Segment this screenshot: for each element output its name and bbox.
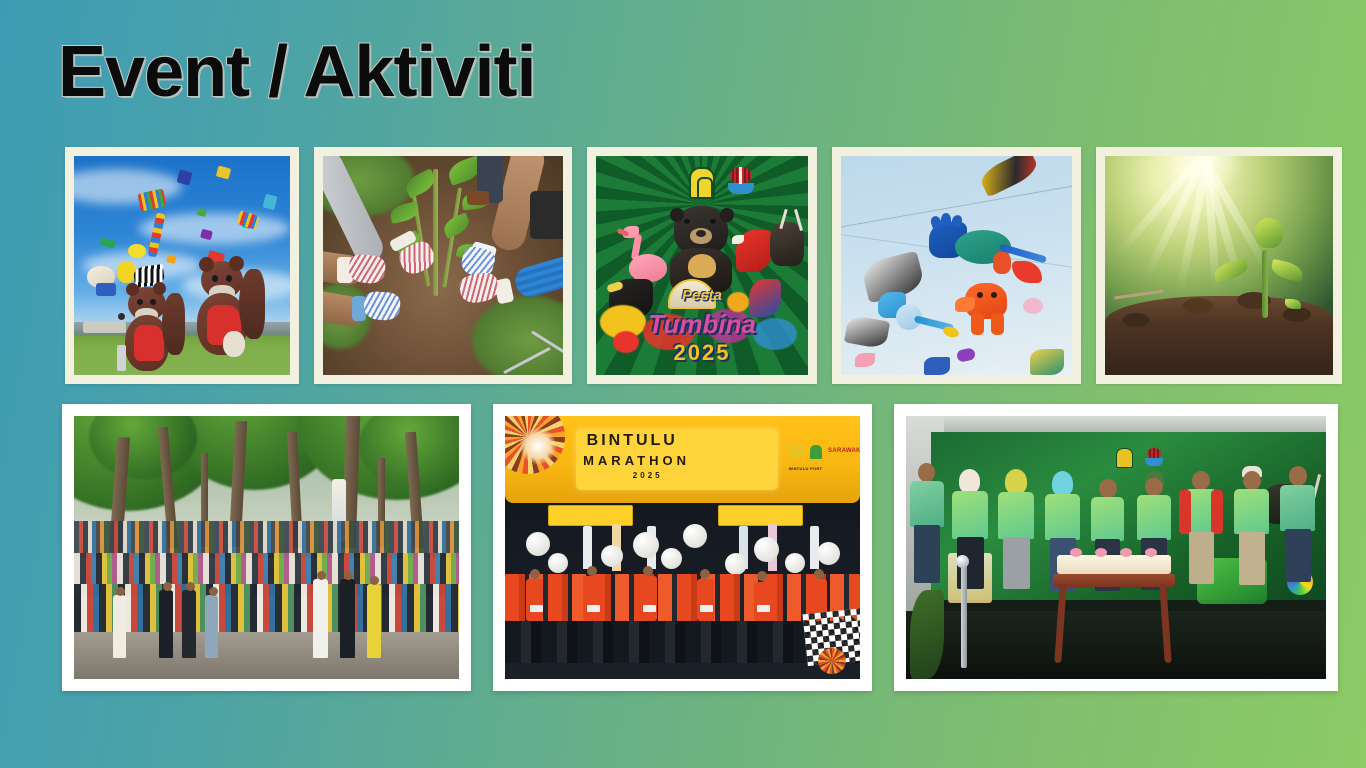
sponsor-council-logo [810,445,822,459]
poster-line-3: 2025 [596,340,808,366]
balloon [526,532,550,556]
backdrop-council-logo [1145,448,1163,468]
participant-head [209,587,218,596]
poster-line-1: Pesta [596,287,808,304]
photo-cake-cutting-ceremony[interactable] [906,416,1326,679]
small-kite [855,353,875,367]
seedling-top-leaf [1255,218,1283,248]
balloon [548,553,568,573]
photo-frame-pesta-tumbina-2025-poster[interactable]: Pesta Tumbina 2025 [587,147,817,384]
soil-clod [1183,298,1213,314]
race-bib [643,605,656,612]
participant [182,590,196,658]
squirrel-kite [122,287,188,375]
participant [113,595,126,658]
vip-guest [1280,466,1315,650]
photo-frame-kite-festival-field[interactable] [65,147,299,384]
vip-guest-in-red-vest [1183,471,1219,650]
sponsor-state-logo [789,445,803,459]
shoe [467,191,489,205]
page-title-wrapper: Event / Aktiviti [58,36,535,108]
tent [83,322,126,333]
small-seahorse-kite [878,292,952,338]
cake-rose [1120,548,1132,557]
runner-head [814,569,824,579]
runner [583,576,600,621]
backdrop-state-logo [1116,448,1133,468]
runner-head [530,569,540,579]
sponsor-label-sarawak: SARAWAK [828,448,860,454]
balloon [725,553,747,575]
macaw-face [732,235,744,244]
bear-kite-body [96,283,116,296]
spectator [117,345,126,371]
poster-line-2: Tumbina [596,309,808,340]
cake-rose [1145,548,1157,557]
race-bib [530,605,543,612]
balloon [661,548,682,569]
crowd-row-front [74,584,459,631]
race-bib [587,605,600,612]
small-kite [924,357,950,375]
tool-bag [530,191,563,239]
vip-guest [1234,469,1269,650]
photo-kites-in-pale-sky[interactable] [841,156,1072,375]
small-kite [1030,349,1064,375]
runner [754,582,771,621]
sunburst-core [519,427,557,465]
sun-bear-illustration [666,206,738,292]
marathon-title-line-3: 2025 [633,471,663,480]
photo-frame-cake-cutting-ceremony[interactable] [894,404,1338,691]
dinosaur-kite [957,283,1019,337]
race-bib [757,605,770,612]
glove-red [348,253,387,285]
participant-head [186,582,195,591]
page-title: Event / Aktiviti [58,36,535,108]
participant-head [317,571,326,580]
small-kite [993,252,1011,274]
feather-banner [583,526,592,568]
gallery-row-2: BINTULU MARATHON 2025 BINTULU PORT SARAW… [62,404,1338,691]
hanging-sign [718,505,803,526]
balloon [754,537,779,562]
photo-tree-planting-hands[interactable] [323,156,563,375]
participant [313,579,328,658]
balloon [633,532,659,558]
stanchion-post [961,563,967,668]
ceremony-table-top [1053,574,1175,587]
squirrel-kite [193,261,267,369]
marathon-title-line-2: MARATHON [583,453,690,468]
soil-clod [1123,313,1149,327]
participant [205,595,218,658]
photo-seedling-in-soil[interactable] [1105,156,1333,375]
marathon-title-line-1: BINTULU [587,432,678,450]
sapling-stem [433,169,438,296]
runner [526,579,543,621]
participant [367,584,381,658]
participant-head [344,571,353,580]
photo-frame-bintulu-marathon-2025-start[interactable]: BINTULU MARATHON 2025 BINTULU PORT SARAW… [493,404,872,691]
glove-blue [363,291,401,321]
race-bib [700,605,713,612]
cake-rose [1095,548,1107,557]
flamingo-illustration [621,222,667,284]
runner-head [700,569,710,579]
sarawak-state-logo [689,167,715,199]
runner-head [587,566,597,576]
smiley-kite [128,244,146,258]
balloon [601,545,623,567]
photo-pesta-tumbina-2025-poster[interactable]: Pesta Tumbina 2025 [596,156,808,375]
decorative-plant [910,590,944,679]
photo-frame-kites-in-pale-sky[interactable] [832,147,1081,384]
ceremonial-cake [1057,555,1170,573]
runner [697,579,714,621]
balloon [683,524,707,548]
sponsor-label-bintulu-port: BINTULU PORT [789,466,822,471]
gallery-row-1: Pesta Tumbina 2025 [65,147,1342,384]
event-logo-on-flag [818,648,846,674]
participant [159,590,173,658]
participant [340,579,355,658]
paved-ground [74,624,459,679]
council-logo [727,167,755,199]
vip-guest [998,469,1034,653]
photo-frame-seedling-in-soil[interactable] [1096,147,1342,384]
photo-bintulu-marathon-2025-start[interactable]: BINTULU MARATHON 2025 BINTULU PORT SARAW… [505,416,860,679]
photo-frame-community-run-group-photo[interactable] [62,404,471,691]
photo-frame-tree-planting-hands[interactable] [314,147,572,384]
kite [166,254,177,264]
cake-rose [1070,548,1082,557]
photo-kite-festival-field[interactable] [74,156,290,375]
runner [640,576,657,621]
participant-head [163,582,172,591]
seedling-stem [1262,250,1268,318]
photo-community-run-group-photo[interactable] [74,416,459,679]
